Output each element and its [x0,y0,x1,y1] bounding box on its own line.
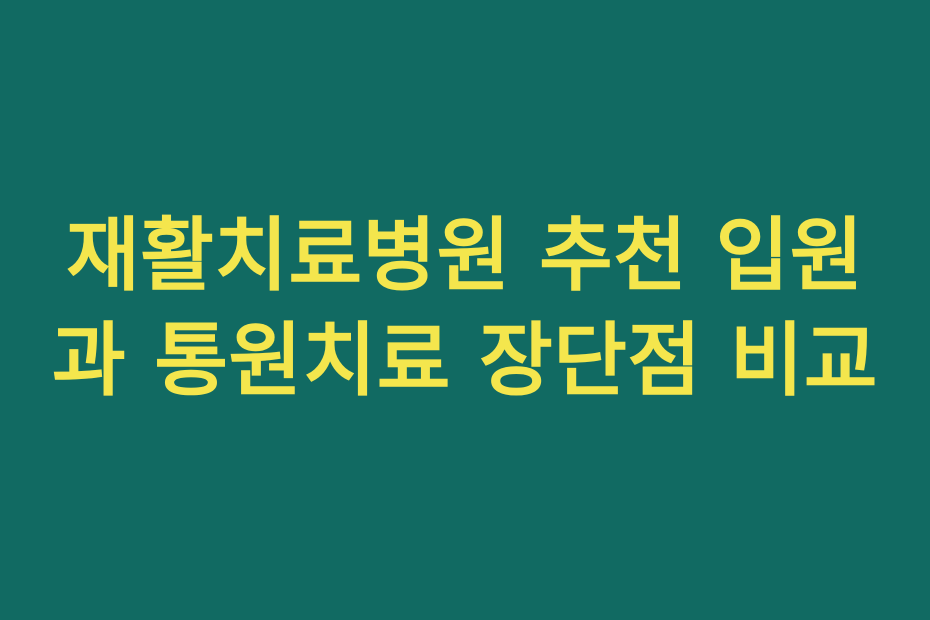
thumbnail-card: 재활치료병원 추천 입원 과 통원치료 장단점 비교 [0,0,930,620]
title-line-2: 과 통원치료 장단점 비교 [46,308,884,413]
page-title: 재활치료병원 추천 입원 과 통원치료 장단점 비교 [0,203,930,413]
title-line-1: 재활치료병원 추천 입원 [46,203,884,308]
